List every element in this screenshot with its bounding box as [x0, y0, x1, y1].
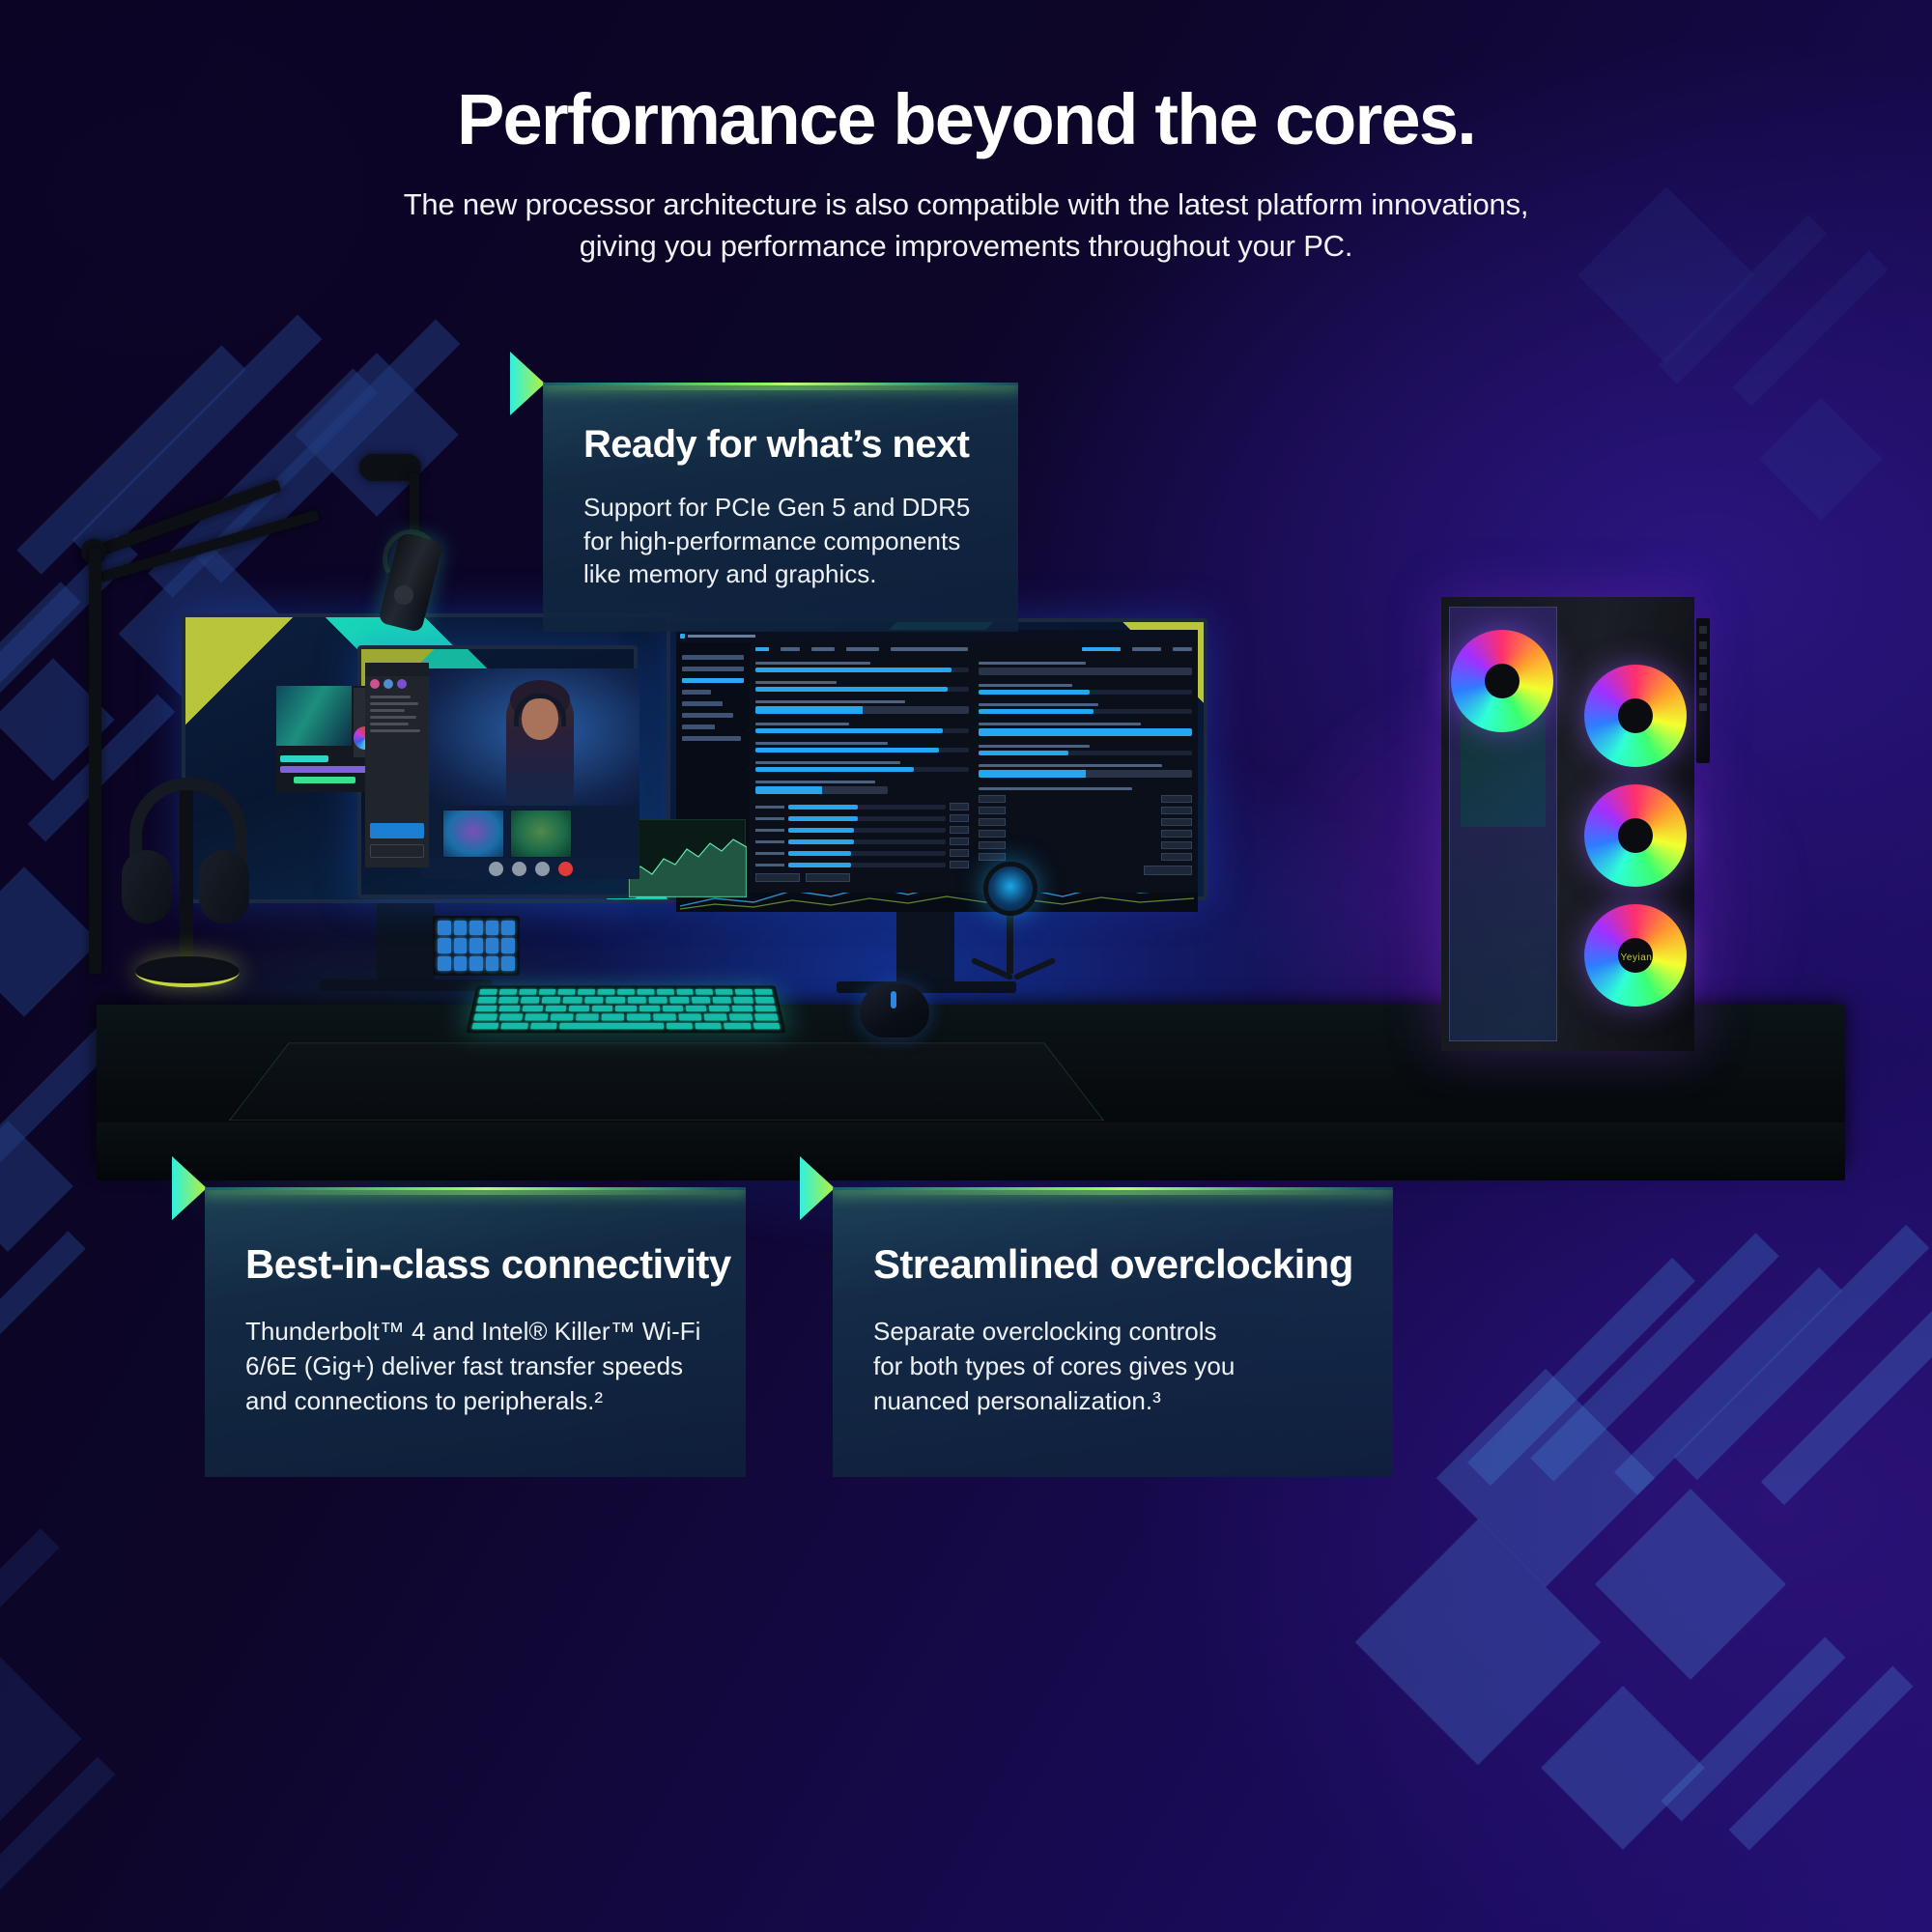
- xtu-control-columns: [755, 662, 1192, 882]
- xtu-control-row[interactable]: [755, 662, 969, 672]
- feature-card-title: Best-in-class connectivity: [245, 1241, 731, 1288]
- pc-tower-brand: Yeyian: [1596, 952, 1677, 966]
- left-monitor-stand: [377, 903, 435, 986]
- xtu-nav-item[interactable]: [682, 655, 744, 660]
- triangle-right-icon: [510, 352, 545, 415]
- triangle-right-icon: [172, 1156, 207, 1220]
- xtu-toolbar-settings[interactable]: [1132, 647, 1161, 651]
- headset-earcup-left: [122, 850, 172, 923]
- headset-stand-base: [135, 956, 240, 987]
- rgb-fan: [1584, 784, 1687, 887]
- stream-deck-key[interactable]: [454, 938, 468, 952]
- stream-deck-key[interactable]: [469, 921, 483, 935]
- xtu-tabbar[interactable]: [755, 647, 1192, 657]
- stream-deck-key[interactable]: [486, 938, 499, 952]
- xtu-nav-item[interactable]: [682, 667, 744, 671]
- chat-message: [370, 729, 420, 732]
- xtu-tvb-row[interactable]: [979, 841, 1192, 849]
- xtu-tvb-table: [979, 787, 1192, 861]
- area-chart: [629, 820, 747, 897]
- keyboard-row[interactable]: [477, 997, 775, 1003]
- stream-deck-key[interactable]: [438, 921, 451, 935]
- triangle-right-icon: [800, 1156, 835, 1220]
- desk-mat: [229, 1043, 1104, 1121]
- xtu-toolbar-monitoring[interactable]: [1082, 647, 1121, 651]
- xtu-nav-item[interactable]: [682, 724, 715, 729]
- chat-message: [370, 723, 409, 725]
- stream-deck[interactable]: [433, 916, 520, 976]
- xtu-tvb-row[interactable]: [979, 795, 1192, 803]
- chat-avatar-row: [365, 676, 429, 692]
- page-root: Performance beyond the cores. The new pr…: [0, 0, 1932, 1932]
- keyboard-row[interactable]: [473, 1014, 778, 1021]
- webcam[interactable]: [983, 862, 1037, 916]
- stream-deck-key[interactable]: [469, 938, 483, 952]
- microphone-icon[interactable]: [535, 862, 550, 876]
- video-call-controls[interactable]: [421, 858, 639, 879]
- xtu-tab-core[interactable]: [781, 647, 800, 651]
- xtu-right-column: [979, 662, 1192, 882]
- stream-deck-key[interactable]: [454, 956, 468, 971]
- gaming-mouse[interactable]: [860, 983, 929, 1037]
- xtu-nav-item[interactable]: [682, 713, 733, 718]
- body-line-3: like memory and graphics.: [583, 559, 876, 588]
- xtu-save-button[interactable]: [1144, 866, 1192, 875]
- chat-input[interactable]: [370, 844, 424, 858]
- headset-earcup-right: [199, 850, 249, 923]
- feature-card-body: Thunderbolt™ 4 and Intel® Killer™ Wi-Fi …: [245, 1315, 700, 1419]
- xtu-toggle-row[interactable]: [979, 764, 1192, 778]
- xtu-nav-item[interactable]: [682, 701, 723, 706]
- chat-message: [370, 709, 405, 712]
- chat-header: [365, 663, 429, 676]
- video-call-main-speaker: [421, 668, 639, 806]
- stream-deck-key[interactable]: [454, 921, 468, 935]
- timeline-clip[interactable]: [280, 766, 369, 773]
- xtu-control-row[interactable]: [979, 703, 1192, 714]
- xtu-core-row[interactable]: [755, 814, 969, 822]
- editor-preview: [276, 686, 352, 746]
- chart-window: [628, 819, 746, 896]
- xtu-control-row[interactable]: [755, 723, 969, 733]
- video-call-participant-2[interactable]: [442, 810, 504, 858]
- left-monitor-base: [319, 980, 493, 991]
- stream-deck-key[interactable]: [501, 956, 515, 971]
- feature-card-title: Streamlined overclocking: [873, 1241, 1353, 1288]
- xtu-tvb-row[interactable]: [979, 807, 1192, 814]
- stream-deck-key[interactable]: [501, 938, 515, 952]
- xtu-tvb-row[interactable]: [979, 830, 1192, 838]
- right-monitor-stand: [896, 900, 954, 987]
- xtu-toggle-row[interactable]: [755, 700, 969, 714]
- chat-panel[interactable]: [365, 663, 429, 867]
- xtu-tab-voltage-offset[interactable]: [891, 647, 968, 651]
- xtu-tvb-row[interactable]: [979, 853, 1192, 861]
- xtu-control-row[interactable]: [979, 684, 1192, 695]
- xtu-nav-item[interactable]: [682, 736, 741, 741]
- xtu-control-row[interactable]: [755, 761, 969, 772]
- xtu-control-row[interactable]: [755, 742, 969, 753]
- feature-card-panel: Ready for what’s next Support for PCIe G…: [543, 383, 1018, 632]
- keyboard-row[interactable]: [479, 989, 773, 995]
- body-line-2: for both types of cores gives you: [873, 1351, 1235, 1380]
- xtu-left-column: [755, 662, 969, 882]
- xtu-apply-button[interactable]: [755, 873, 800, 882]
- chat-highlighted-message[interactable]: [370, 823, 424, 838]
- xtu-core-row[interactable]: [755, 849, 969, 857]
- xtu-tvb-row[interactable]: [979, 818, 1192, 826]
- body-line-3: and connections to peripherals.²: [245, 1386, 603, 1415]
- feature-card-body: Separate overclocking controls for both …: [873, 1315, 1235, 1419]
- xtu-toggle-row[interactable]: [979, 723, 1192, 736]
- stream-deck-key[interactable]: [486, 956, 499, 971]
- xtu-content: [750, 642, 1198, 893]
- body-line-2: 6/6E (Gig+) deliver fast transfer speeds: [245, 1351, 683, 1380]
- pc-tower-io-panel[interactable]: [1696, 618, 1710, 763]
- feature-card-body: Support for PCIe Gen 5 and DDR5 for high…: [583, 491, 970, 591]
- xtu-tab-all[interactable]: [755, 647, 769, 651]
- body-line-1: Separate overclocking controls: [873, 1317, 1217, 1346]
- xtu-nav-item[interactable]: [682, 690, 711, 695]
- xtu-core-row[interactable]: [755, 861, 969, 868]
- xtu-toggle-row[interactable]: [755, 781, 969, 794]
- speaker-icon[interactable]: [489, 862, 503, 876]
- xtu-tab-cache[interactable]: [811, 647, 835, 651]
- stream-deck-key[interactable]: [469, 956, 483, 971]
- stream-deck-key[interactable]: [438, 938, 451, 952]
- xtu-discard-button[interactable]: [806, 873, 850, 882]
- stream-deck-key[interactable]: [501, 921, 515, 935]
- xtu-nav-item-active[interactable]: [682, 678, 744, 683]
- stream-deck-key[interactable]: [486, 921, 499, 935]
- xtu-core-row[interactable]: [755, 838, 969, 845]
- timeline-clip[interactable]: [280, 755, 328, 762]
- page-title: Performance beyond the cores.: [0, 83, 1932, 156]
- boom-arm-post: [89, 549, 101, 974]
- xtu-core-row[interactable]: [755, 826, 969, 834]
- body-line-2: for high-performance components: [583, 526, 960, 555]
- xtu-core-row[interactable]: [755, 803, 969, 810]
- xtu-control-row[interactable]: [979, 745, 1192, 755]
- xtu-core-table: [755, 803, 969, 868]
- body-line-3: nuanced personalization.³: [873, 1386, 1161, 1415]
- body-line-1: Thunderbolt™ 4 and Intel® Killer™ Wi-Fi: [245, 1317, 700, 1346]
- xtu-tab-graphics[interactable]: [846, 647, 879, 651]
- subtitle-line-2: giving you performance improvements thro…: [580, 229, 1353, 263]
- subtitle-line-1: The new processor architecture is also c…: [404, 187, 1529, 221]
- xtu-toolbar-help[interactable]: [1173, 647, 1192, 651]
- header: Performance beyond the cores. The new pr…: [0, 0, 1932, 268]
- video-call-window[interactable]: [421, 668, 639, 879]
- chat-message: [370, 716, 416, 719]
- xtu-toggle-row[interactable]: [979, 662, 1192, 675]
- camera-icon[interactable]: [512, 862, 526, 876]
- mechanical-keyboard[interactable]: [466, 985, 785, 1033]
- xtu-control-row[interactable]: [755, 681, 969, 692]
- keyboard-row[interactable]: [475, 1006, 776, 1011]
- chat-message: [370, 696, 411, 698]
- chat-message: [370, 702, 418, 705]
- right-monitor-base: [837, 981, 1016, 993]
- end-call-icon[interactable]: [558, 862, 573, 876]
- feature-card-title: Ready for what’s next: [583, 423, 969, 467]
- desk-edge: [97, 1122, 1845, 1180]
- rgb-fan: [1451, 630, 1553, 732]
- page-subtitle: The new processor architecture is also c…: [0, 185, 1932, 268]
- microphone-joint: [394, 585, 413, 605]
- xtu-window[interactable]: [676, 630, 1198, 893]
- webcam-tripod-pole: [1007, 914, 1013, 974]
- video-call-participant-3[interactable]: [510, 810, 572, 858]
- feature-card-panel: Best-in-class connectivity Thunderbolt™ …: [205, 1187, 746, 1477]
- stream-deck-key[interactable]: [438, 956, 451, 971]
- timeline-clip[interactable]: [294, 777, 355, 783]
- rgb-fan: [1584, 665, 1687, 767]
- feature-card-panel: Streamlined overclocking Separate overcl…: [833, 1187, 1393, 1477]
- body-line-1: Support for PCIe Gen 5 and DDR5: [583, 493, 970, 522]
- keyboard-row[interactable]: [471, 1023, 780, 1030]
